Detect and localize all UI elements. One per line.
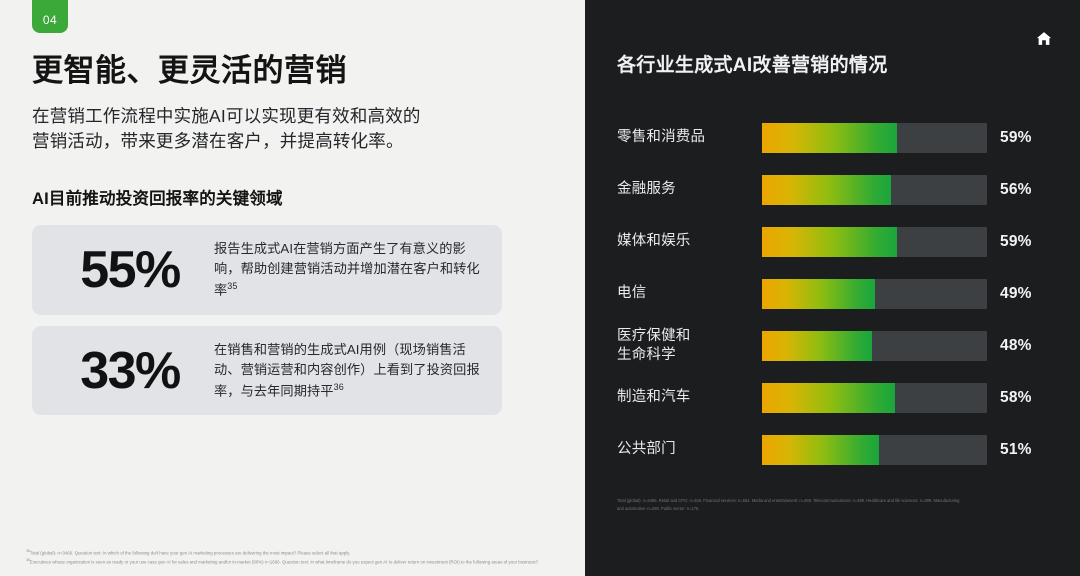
bar-category-label-line1: 医疗保健和	[617, 328, 691, 344]
chart-bar-row: 公共部门 51%	[617, 424, 1057, 476]
left-panel-inner: 更智能、更灵活的营销 在营销工作流程中实施AI可以实现更有效和高效的 营销活动，…	[0, 0, 585, 415]
bar-track	[762, 383, 987, 413]
chart-footnote-item: Total (global): n=3466. Retail and CPG: …	[617, 498, 1057, 505]
chart-title: 各行业生成式AI改善营销的情况	[617, 50, 888, 77]
bar-value-label: 51%	[987, 441, 1032, 459]
chart-footnotes: Total (global): n=3466. Retail and CPG: …	[617, 498, 1057, 514]
bar-track	[762, 123, 987, 153]
bar-category-label: 零售和消费品	[617, 128, 762, 147]
bar-category-label: 媒体和娱乐	[617, 232, 762, 251]
bar-value-label: 59%	[987, 129, 1032, 147]
footnote-item: 36Executives whose organization is seen …	[26, 558, 571, 566]
bar-category-label: 公共部门	[617, 440, 762, 459]
chart-bar-row: 医疗保健和生命科学 48%	[617, 320, 1057, 372]
bar-category-label: 电信	[617, 284, 762, 303]
bar-fill	[762, 331, 872, 361]
stat-footnote-marker: 36	[334, 382, 344, 392]
bar-category-label: 医疗保健和生命科学	[617, 327, 762, 365]
bar-value-label: 49%	[987, 285, 1032, 303]
bar-fill	[762, 279, 875, 309]
bar-value-label: 58%	[987, 389, 1032, 407]
stat-description: 报告生成式AI在营销方面产生了有意义的影响，帮助创建营销活动并增加潜在客户和转化…	[214, 239, 484, 301]
footnote-text: Executives whose organization is seen as…	[30, 560, 538, 565]
bar-track	[762, 331, 987, 361]
chart-bar-row: 媒体和娱乐 59%	[617, 216, 1057, 268]
home-icon[interactable]	[1035, 30, 1053, 47]
page-subtitle: 在营销工作流程中实施AI可以实现更有效和高效的 营销活动，带来更多潜在客户，并提…	[32, 104, 532, 155]
chart-bar-row: 电信 49%	[617, 268, 1057, 320]
bar-fill	[762, 383, 895, 413]
left-footnotes: 35Total (global): n=3466. Question text:…	[26, 549, 571, 568]
chart-footnote-item: and automotive: n=259. Public sector: n=…	[617, 506, 1057, 513]
bar-value-label: 56%	[987, 181, 1032, 199]
stat-card: 55% 报告生成式AI在营销方面产生了有意义的影响，帮助创建营销活动并增加潜在客…	[32, 225, 502, 315]
stat-footnote-marker: 35	[227, 281, 237, 291]
stat-description: 在销售和营销的生成式AI用例（现场销售活动、营销运营和内容创作）上看到了投资回报…	[214, 340, 484, 402]
bar-value-label: 48%	[987, 337, 1032, 355]
stat-value: 33%	[46, 345, 214, 397]
bar-fill	[762, 123, 897, 153]
footnote-item: 35Total (global): n=3466. Question text:…	[26, 549, 571, 557]
stat-card: 33% 在销售和营销的生成式AI用例（现场销售活动、营销运营和内容创作）上看到了…	[32, 326, 502, 416]
bar-track	[762, 227, 987, 257]
right-chart-panel: 各行业生成式AI改善营销的情况 零售和消费品 59% 金融服务 56% 媒体和娱…	[585, 0, 1080, 576]
page-title: 更智能、更灵活的营销	[32, 52, 541, 90]
section-title: AI目前推动投资回报率的关键领域	[32, 185, 541, 209]
bar-chart: 零售和消费品 59% 金融服务 56% 媒体和娱乐 59%	[617, 112, 1057, 476]
stat-value: 55%	[46, 244, 214, 296]
chart-bar-row: 金融服务 56%	[617, 164, 1057, 216]
bar-category-label-line2: 生命科学	[617, 347, 676, 363]
slide: 04 更智能、更灵活的营销 在营销工作流程中实施AI可以实现更有效和高效的 营销…	[0, 0, 1080, 576]
bar-value-label: 59%	[987, 233, 1032, 251]
bar-track	[762, 435, 987, 465]
subtitle-line-2: 营销活动，带来更多潜在客户，并提高转化率。	[32, 129, 532, 155]
left-content-panel: 04 更智能、更灵活的营销 在营销工作流程中实施AI可以实现更有效和高效的 营销…	[0, 0, 585, 576]
page-number-label: 04	[43, 13, 57, 27]
stat-description-text: 报告生成式AI在营销方面产生了有意义的影响，帮助创建营销活动并增加潜在客户和转化…	[214, 241, 480, 297]
chart-bar-row: 制造和汽车 58%	[617, 372, 1057, 424]
bar-fill	[762, 435, 879, 465]
stat-description-text: 在销售和营销的生成式AI用例（现场销售活动、营销运营和内容创作）上看到了投资回报…	[214, 342, 480, 398]
page-number-badge: 04	[32, 0, 68, 33]
bar-category-label: 金融服务	[617, 180, 762, 199]
bar-fill	[762, 175, 891, 205]
bar-track	[762, 175, 987, 205]
bar-track	[762, 279, 987, 309]
subtitle-line-1: 在营销工作流程中实施AI可以实现更有效和高效的	[32, 104, 532, 130]
chart-bar-row: 零售和消费品 59%	[617, 112, 1057, 164]
footnote-text: Total (global): n=3466. Question text: I…	[30, 550, 351, 555]
bar-fill	[762, 227, 897, 257]
bar-category-label: 制造和汽车	[617, 388, 762, 407]
